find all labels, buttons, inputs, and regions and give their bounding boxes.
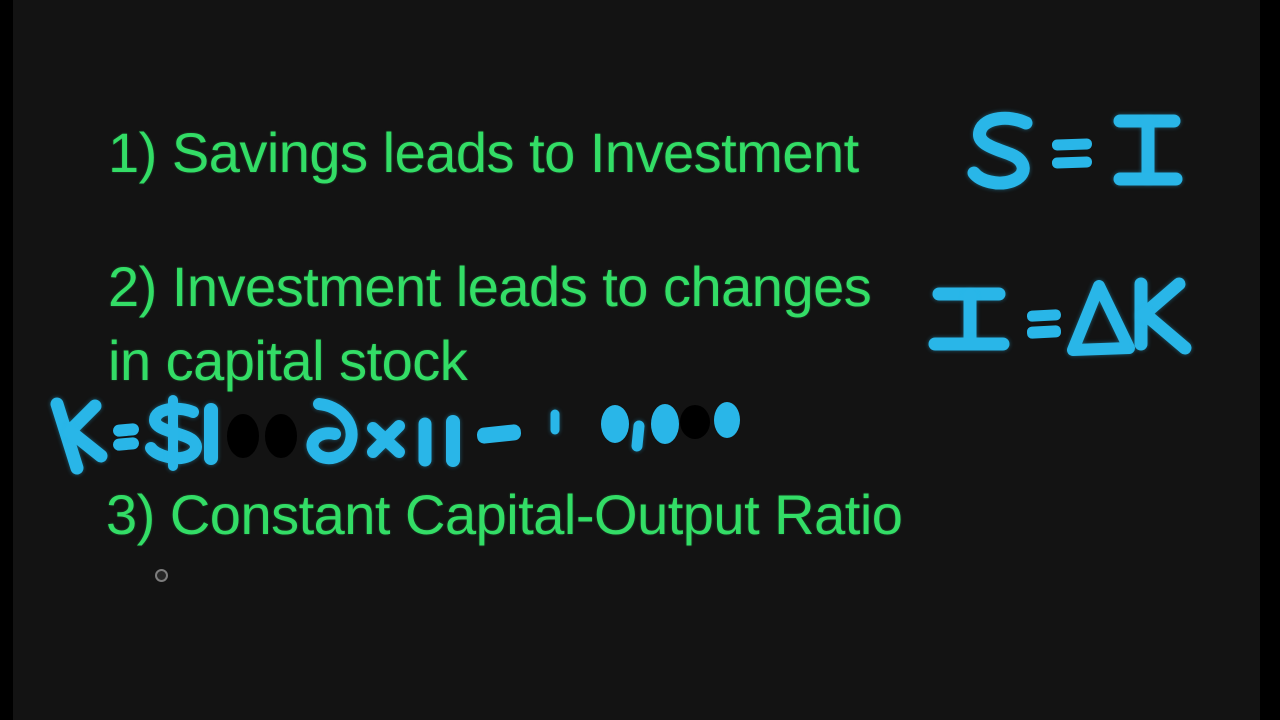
handwritten-savings-equals-investment (968, 105, 1193, 200)
handwritten-capital-calculation (43, 380, 723, 475)
slide-root: 1) Savings leads to Investment 2) Invest… (0, 0, 1280, 720)
bullet-line-2-continued: in capital stock (108, 328, 467, 393)
bullet-line-1: 1) Savings leads to Investment (108, 120, 859, 185)
cursor-dot[interactable] (155, 569, 168, 582)
slide-canvas: 1) Savings leads to Investment 2) Invest… (13, 0, 1260, 720)
handwritten-investment-equals-delta-k (923, 278, 1198, 363)
bullet-line-3: 3) Constant Capital-Output Ratio (106, 482, 902, 547)
bullet-line-2: 2) Investment leads to changes (108, 254, 871, 319)
